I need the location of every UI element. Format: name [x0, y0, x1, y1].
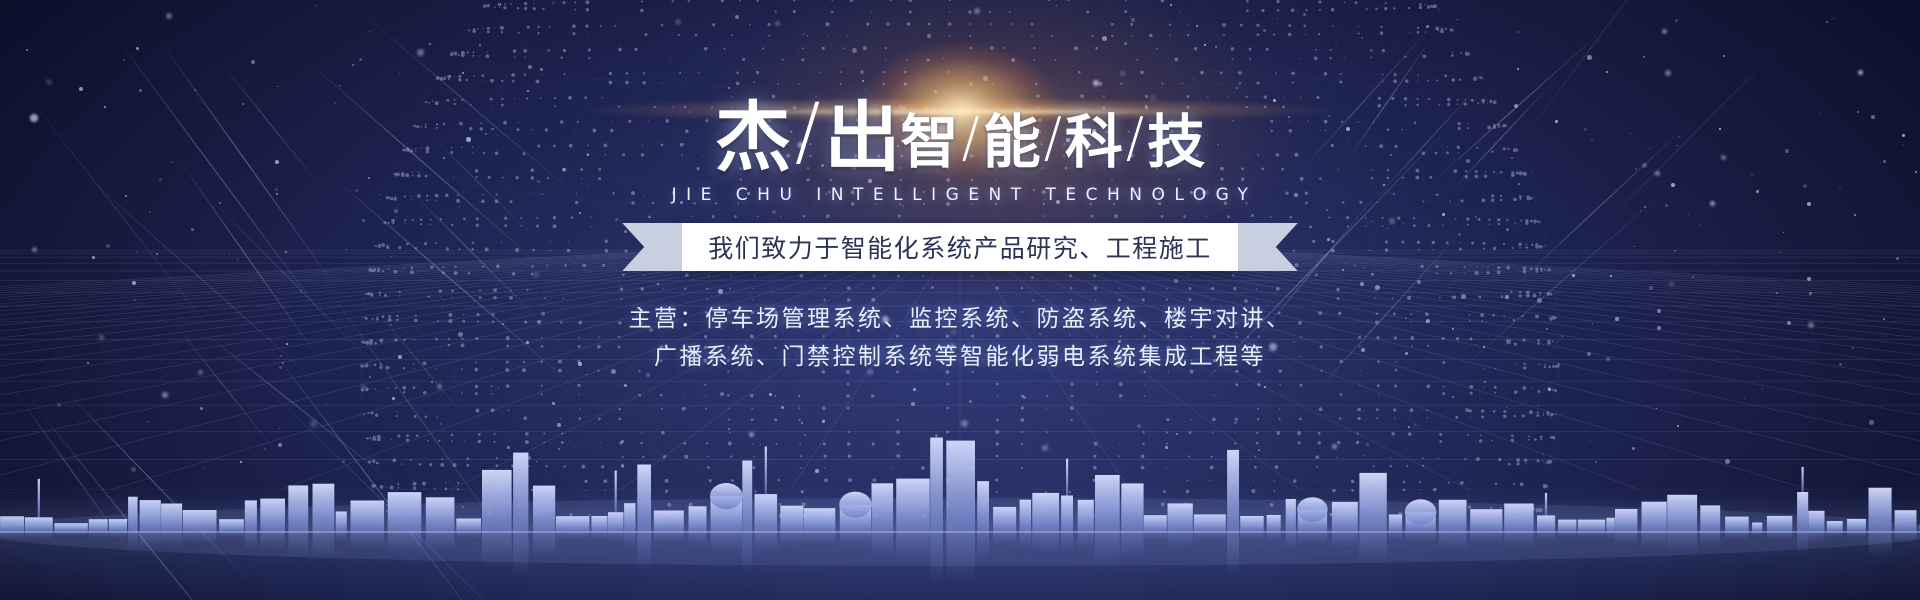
- ribbon-tail-right: [1238, 223, 1298, 271]
- ribbon-text: 我们致力于智能化系统产品研究、工程施工: [708, 229, 1212, 265]
- title-char-zhi: 智: [900, 113, 958, 175]
- title-char-ke: 科: [1065, 113, 1123, 175]
- main-title: 杰 / 出 智 / 能 / 科 / 技: [715, 86, 1205, 175]
- title-char-jie: 杰: [715, 102, 791, 175]
- english-subtitle: JIE CHU INTELLIGENT TECHNOLOGY: [663, 185, 1258, 205]
- description-line-1: 主营：停车场管理系统、监控系统、防盗系统、楼宇对讲、: [629, 301, 1292, 339]
- tagline-ribbon: 我们致力于智能化系统产品研究、工程施工: [622, 223, 1298, 271]
- title-slash-3: /: [1041, 106, 1065, 175]
- water-reflection-glow: [0, 490, 1920, 600]
- ribbon-tail-left: [622, 223, 682, 271]
- ribbon-body: 我们致力于智能化系统产品研究、工程施工: [682, 223, 1238, 271]
- title-slash-4: /: [1123, 106, 1147, 175]
- hero-banner: 杰 / 出 智 / 能 / 科 / 技 JIE CHU INTELLIGENT …: [0, 0, 1920, 600]
- title-slash-2: /: [958, 106, 982, 175]
- banner-content: 杰 / 出 智 / 能 / 科 / 技 JIE CHU INTELLIGENT …: [0, 0, 1920, 377]
- title-char-chu: 出: [824, 102, 900, 175]
- description-line-2: 广播系统、门禁控制系统等智能化弱电系统集成工程等: [629, 339, 1292, 377]
- city-skyline-silhouette: [0, 350, 1920, 600]
- title-char-ji: 技: [1147, 113, 1205, 175]
- services-description: 主营：停车场管理系统、监控系统、防盗系统、楼宇对讲、 广播系统、门禁控制系统等智…: [629, 301, 1292, 377]
- title-slash-1: /: [791, 86, 825, 175]
- title-char-neng: 能: [983, 113, 1041, 175]
